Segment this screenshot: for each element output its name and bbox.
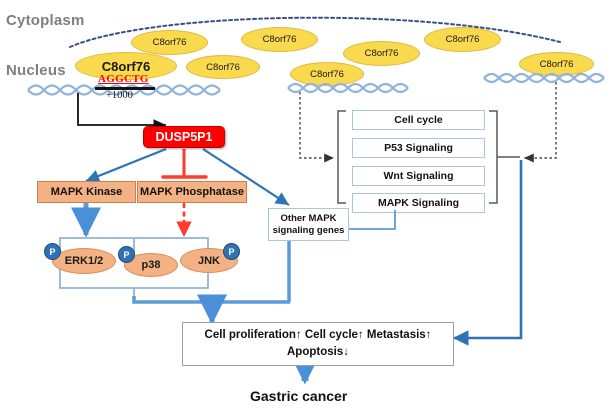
phospho-badge-p38: P [118,246,135,263]
promoter-position-label: +1000 [106,90,133,101]
arrow-dusp-to-kinase [86,149,166,181]
box-mapk-kinase[interactable]: MAPK Kinase [37,181,136,203]
phospho-badge-erk: P [44,243,61,260]
bracket-signaling-right [489,111,497,203]
other-genes-line-1: Other MAPK [281,213,337,225]
pathway-diagram: Cytoplasm Nucleus C8orf76 C8orf76 C8orf7… [0,0,611,416]
feedback-dotted-right [524,82,556,158]
bracket-signaling-left [338,111,346,203]
feedback-dotted-left [300,92,334,158]
promoter-motif: AGGCTG [98,73,149,85]
outcome-line-1: Cell proliferation↑ Cell cycle↑ Metastas… [205,327,432,344]
right-feedback-to-outcome [453,160,521,338]
gene-dusp5p1[interactable]: DUSP5P1 [143,126,225,148]
box-outcomes: Cell proliferation↑ Cell cycle↑ Metastas… [182,322,454,366]
merge-bus [134,296,290,302]
box-mapk-phosphatase[interactable]: MAPK Phosphatase [137,181,247,203]
outcome-line-2: Apoptosis↓ [287,344,349,361]
box-other-mapk-genes[interactable]: Other MAPK signaling genes [268,208,349,241]
kinase-erk12[interactable]: ERK1/2 [52,248,116,274]
phospho-badge-jnk: P [223,243,240,260]
other-genes-line-2: signaling genes [273,225,345,237]
